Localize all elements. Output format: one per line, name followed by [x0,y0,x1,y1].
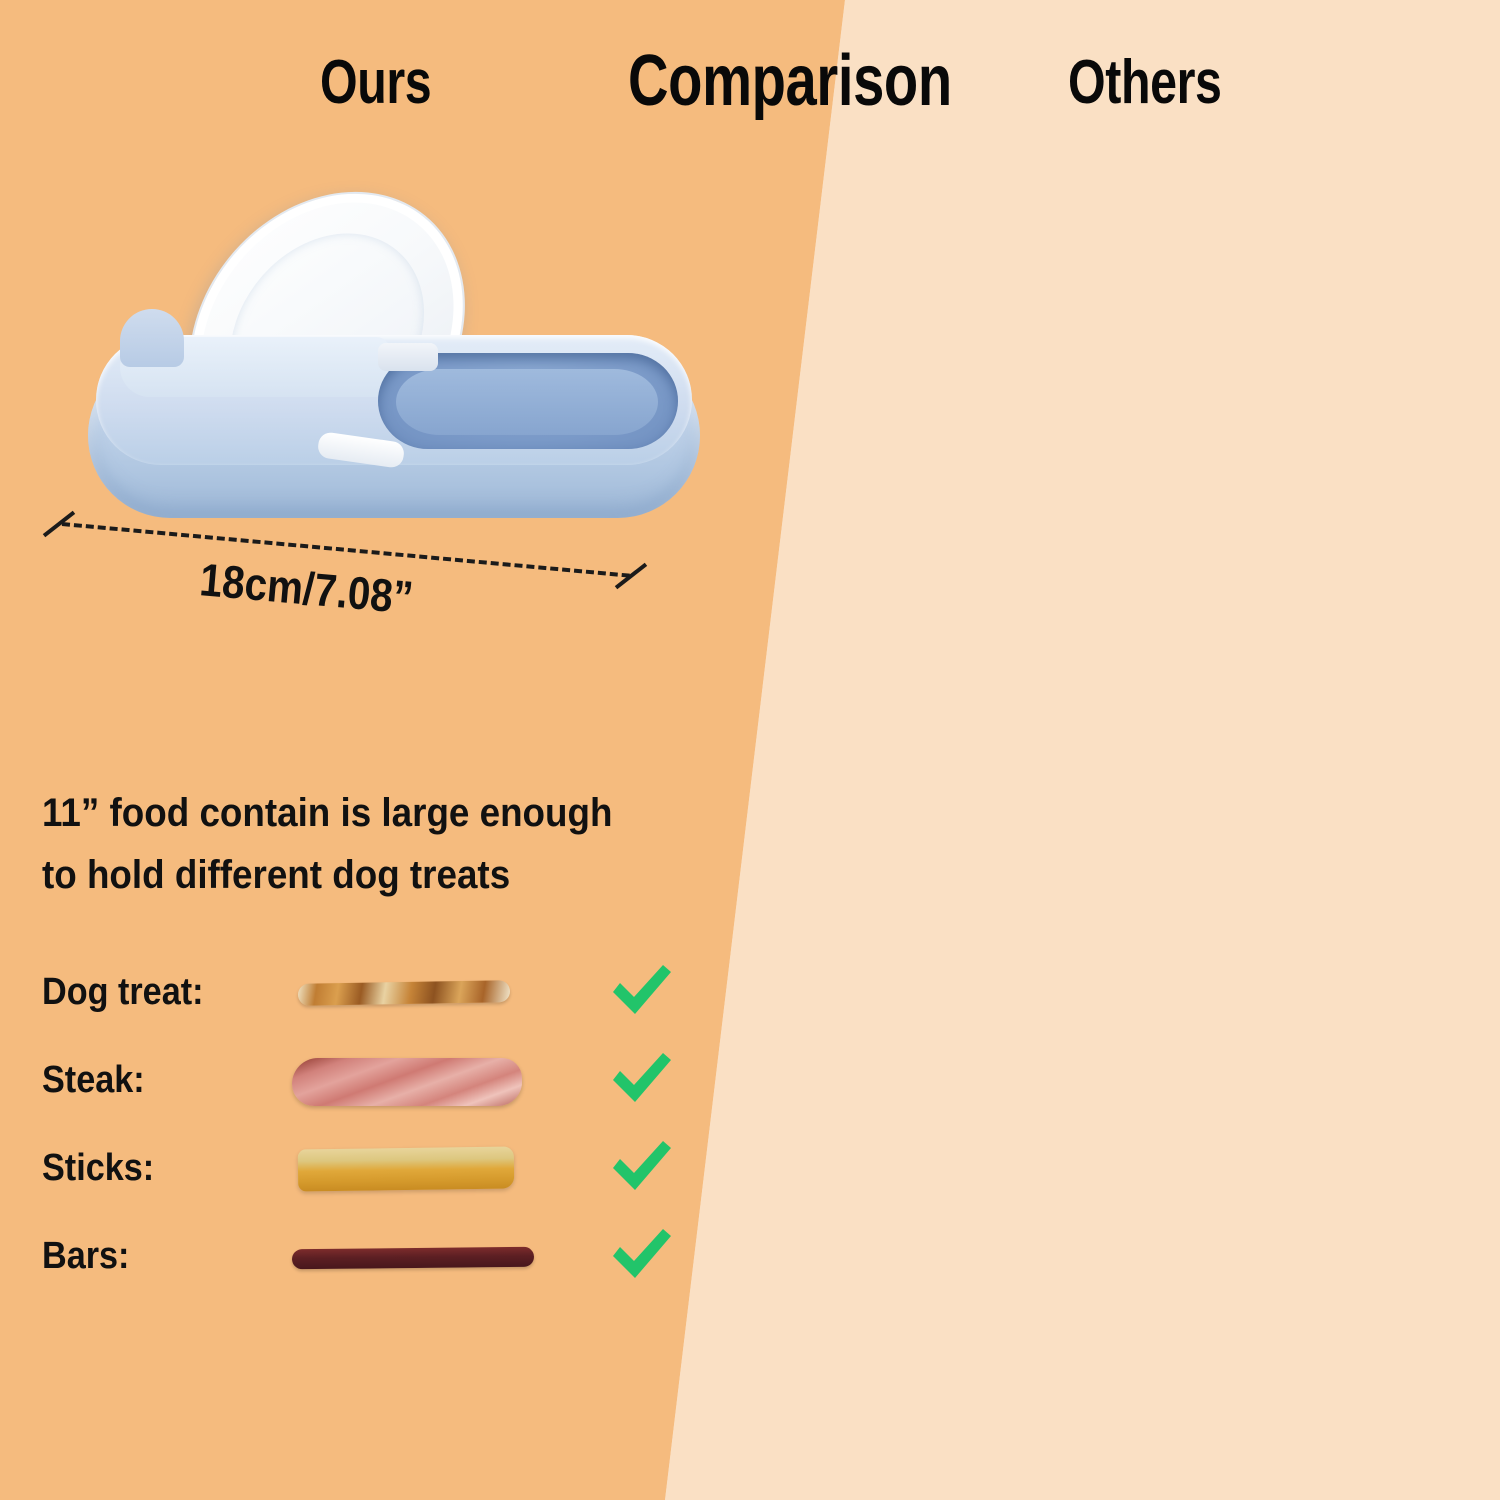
ours-description-line-1: 11” food contain is large enough [42,782,612,844]
check-icon [608,1135,674,1201]
stick-image [292,1138,552,1198]
steak-image [292,1050,552,1110]
comparison-infographic: Ours Comparison Others 18cm/7.08” 11” fo… [0,0,1500,1500]
check-icon [608,1047,674,1113]
ours-description: 11” food contain is large enough to hold… [42,782,612,906]
left-panel: 18cm/7.08” 11” food contain is large eno… [0,0,760,1500]
row-label: Sticks: [42,1147,267,1190]
bar-image [292,1226,552,1286]
dimension-label-length: 18cm/7.08” [198,552,416,624]
container-knob [120,309,184,367]
ours-description-line-2: to hold different dog treats [42,844,612,906]
row-label: Bars: [42,1235,267,1278]
ours-feature-list: Dog treat: Steak: Sticks: [42,948,682,1300]
container-compartment-inner [396,369,658,435]
container-latch [378,343,438,371]
ours-dimension-annotation: 18cm/7.08” [34,500,654,630]
check-icon [608,959,674,1025]
list-item: Dog treat: [42,948,682,1036]
dog-treat-image [292,962,552,1022]
list-item: Bars: [42,1212,682,1300]
right-panel: 7.5cm/3” 9cm 3.5” [760,0,1500,1500]
list-item: Sticks: [42,1124,682,1212]
row-label: Steak: [42,1059,267,1102]
check-icon [608,1223,674,1289]
row-label: Dog treat: [42,971,267,1014]
list-item: Steak: [42,1036,682,1124]
